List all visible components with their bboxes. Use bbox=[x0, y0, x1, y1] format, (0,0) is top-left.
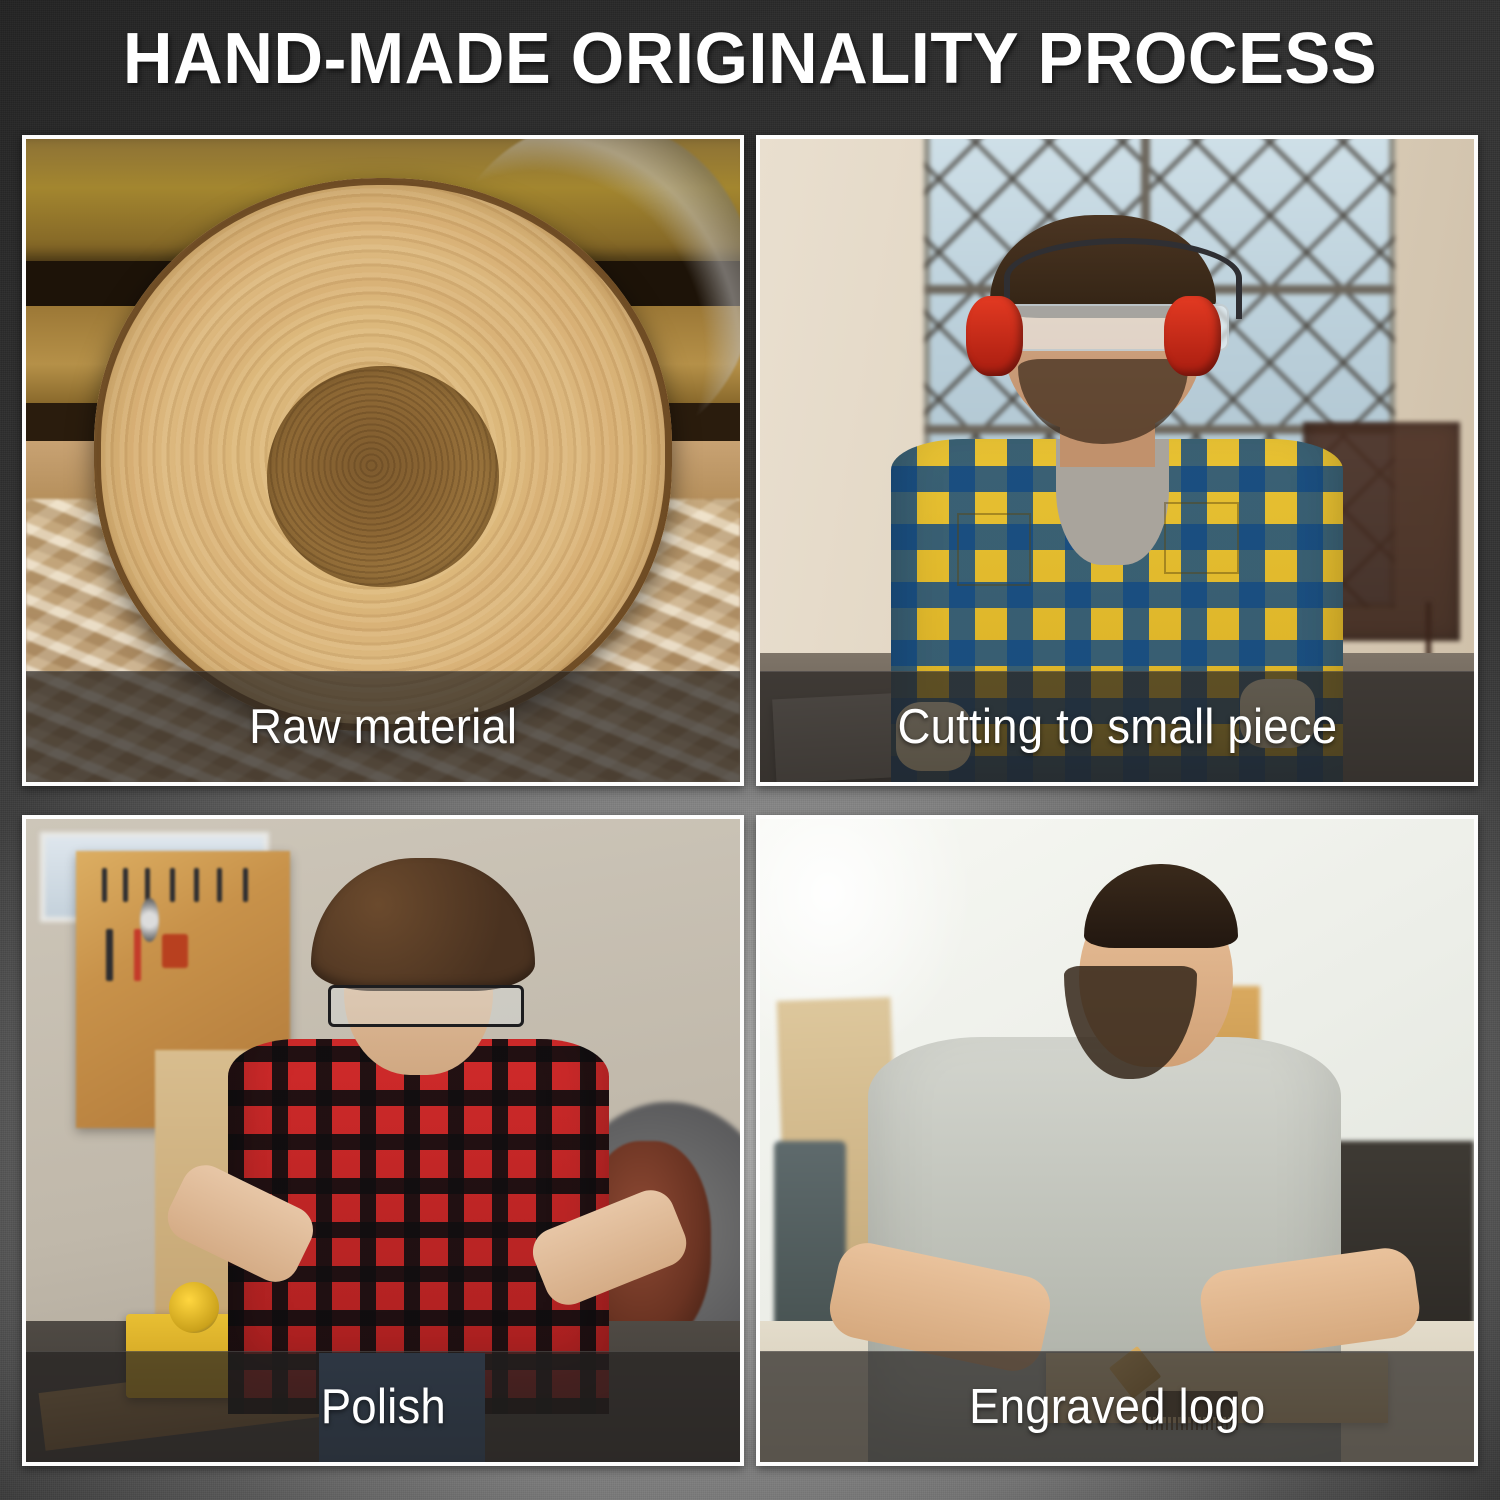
screwdriver bbox=[106, 929, 113, 981]
caption-label: Cutting to small piece bbox=[897, 703, 1337, 752]
hanging-pliers bbox=[145, 868, 150, 902]
caption-bar: Raw material bbox=[26, 671, 740, 782]
page-title: HAND-MADE ORIGINALITY PROCESS bbox=[34, 16, 1467, 102]
caption-label: Polish bbox=[320, 1383, 445, 1432]
screwdriver bbox=[134, 929, 141, 981]
caption-label: Engraved logo bbox=[969, 1383, 1265, 1432]
hanging-pliers bbox=[102, 868, 107, 902]
shirt-pocket bbox=[957, 513, 1032, 586]
process-step-polish[interactable]: Polish bbox=[22, 815, 744, 1466]
shirt-pocket bbox=[1164, 502, 1239, 575]
photo-frame: Raw material bbox=[22, 135, 744, 786]
photo-frame: Engraved logo bbox=[756, 815, 1478, 1466]
caption-bar: Engraved logo bbox=[760, 1351, 1474, 1462]
caption-bar: Cutting to small piece bbox=[760, 671, 1474, 782]
safety-glasses bbox=[328, 985, 524, 1027]
hair bbox=[1084, 864, 1238, 948]
process-step-cutting[interactable]: Cutting to small piece bbox=[756, 135, 1478, 786]
process-step-engraved-logo[interactable]: Engraved logo bbox=[756, 815, 1478, 1466]
beard bbox=[1018, 359, 1188, 445]
hanging-pliers bbox=[123, 868, 128, 902]
process-poster: HAND-MADE ORIGINALITY PROCESS bbox=[0, 0, 1500, 1500]
ear-defender-cup bbox=[1164, 296, 1221, 376]
process-step-raw-material[interactable]: Raw material bbox=[22, 135, 744, 786]
caption-bar: Polish bbox=[26, 1351, 740, 1462]
circular-saw-blade bbox=[140, 898, 159, 942]
curly-hair bbox=[311, 858, 535, 991]
caption-label: Raw material bbox=[249, 703, 517, 752]
hanging-pliers bbox=[194, 868, 199, 902]
photo-frame: Polish bbox=[22, 815, 744, 1466]
ear-defender-cup bbox=[966, 296, 1023, 376]
screwdriver-rack bbox=[162, 934, 188, 968]
process-grid: Raw material bbox=[22, 135, 1478, 1476]
hanging-pliers bbox=[170, 868, 175, 902]
photo-frame: Cutting to small piece bbox=[756, 135, 1478, 786]
